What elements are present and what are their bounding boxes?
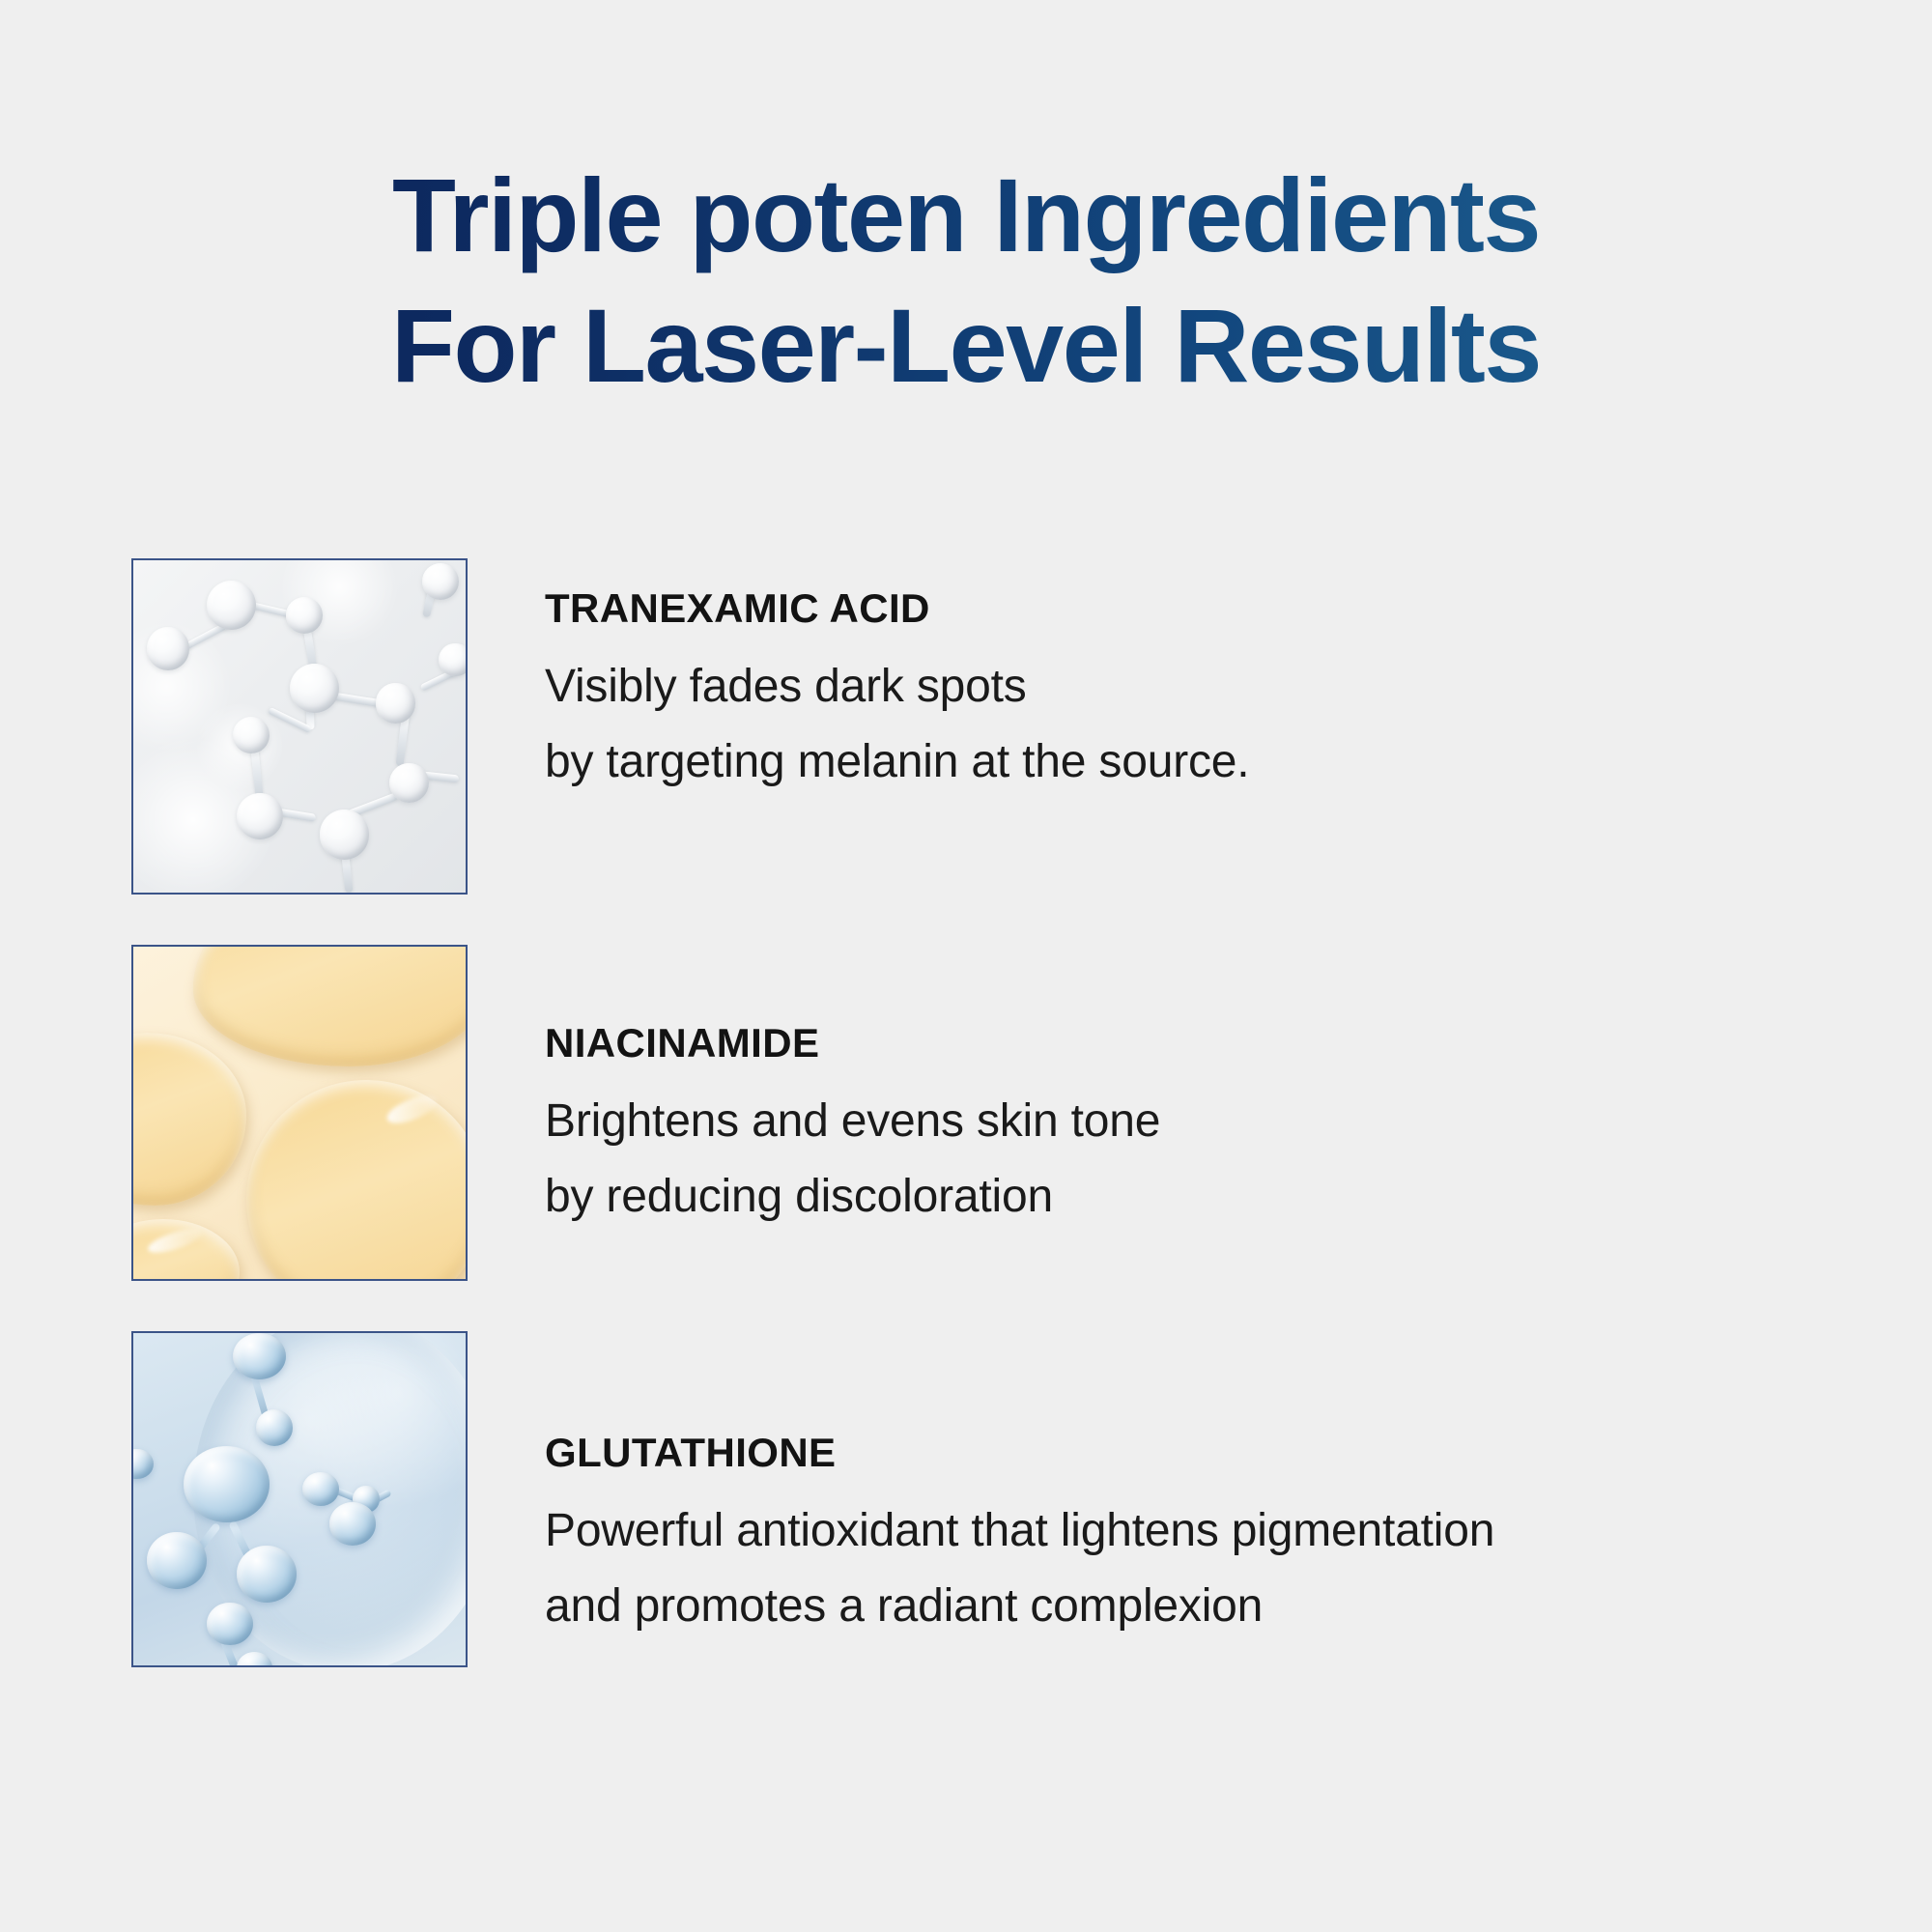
ingredient-text-tranexamic-acid: TRANEXAMIC ACID Visibly fades dark spots… <box>545 558 1249 800</box>
ingredient-description: Powerful antioxidant that lightens pigme… <box>545 1493 1494 1644</box>
ingredient-description: Brightens and evens skin tone by reducin… <box>545 1084 1160 1235</box>
ingredient-name: TRANEXAMIC ACID <box>545 585 1249 632</box>
page-title-line-1: Triple poten Ingredients <box>0 150 1932 280</box>
page-title-line-2: For Laser-Level Results <box>0 280 1932 411</box>
ingredient-text-niacinamide: NIACINAMIDE Brightens and evens skin ton… <box>545 945 1160 1235</box>
ingredient-name: GLUTATHIONE <box>545 1430 1494 1476</box>
page-title: Triple poten Ingredients For Laser-Level… <box>0 150 1932 411</box>
ingredient-image-transparent-molecule-lattice <box>131 558 468 895</box>
ingredient-image-amber-gel-droplets <box>131 945 468 1281</box>
ingredient-image-blue-water-molecules <box>131 1331 468 1667</box>
ingredient-row-tranexamic-acid: TRANEXAMIC ACID Visibly fades dark spots… <box>131 558 1870 895</box>
ingredient-row-niacinamide: NIACINAMIDE Brightens and evens skin ton… <box>131 945 1870 1281</box>
ingredient-row-glutathione: GLUTATHIONE Powerful antioxidant that li… <box>131 1331 1870 1667</box>
ingredient-description: Visibly fades dark spots by targeting me… <box>545 649 1249 800</box>
ingredient-text-glutathione: GLUTATHIONE Powerful antioxidant that li… <box>545 1331 1494 1644</box>
ingredient-name: NIACINAMIDE <box>545 1020 1160 1066</box>
